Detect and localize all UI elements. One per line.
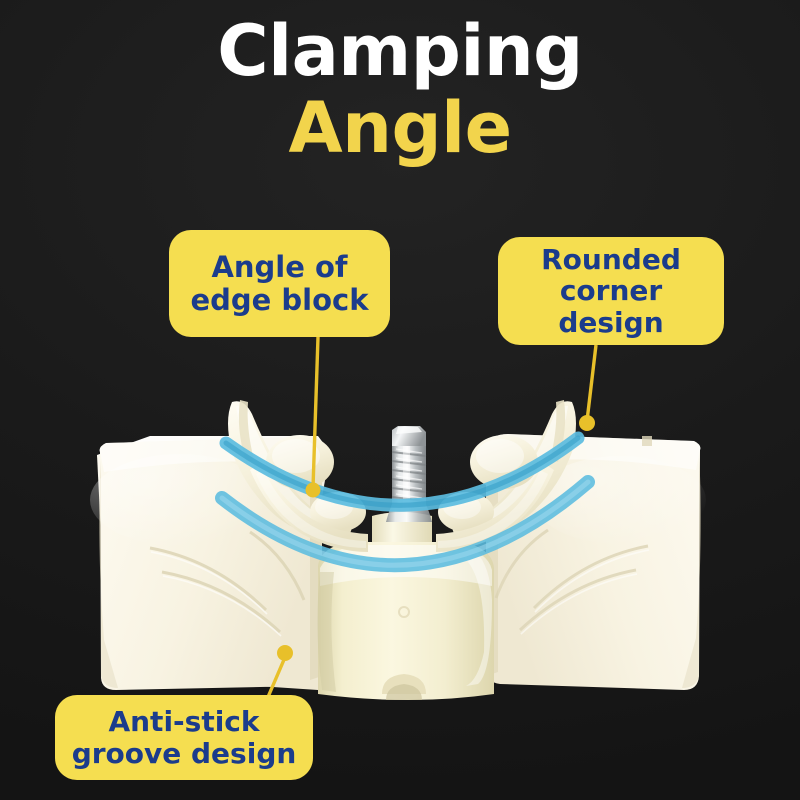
title-line-clamping: Clamping — [0, 18, 800, 85]
callout-anti-stick-groove-design[interactable]: Anti-stick groove design — [55, 695, 313, 780]
callout-angle-of-edge-block-label: Angle of edge block — [190, 251, 368, 316]
callout-rounded-corner-design[interactable]: Rounded corner design — [498, 237, 724, 345]
title-line-angle: Angle — [0, 93, 800, 163]
page-title: Clamping Angle — [0, 18, 800, 163]
leader-line-rounded-corner-design — [579, 345, 596, 431]
callout-rounded-corner-design-label: Rounded corner design — [541, 244, 681, 338]
callout-angle-of-edge-block[interactable]: Angle of edge block — [169, 230, 390, 337]
callout-anti-stick-groove-design-label: Anti-stick groove design — [72, 706, 297, 769]
infographic-canvas: Clamping Angle Angle of edge block Round… — [0, 0, 800, 800]
